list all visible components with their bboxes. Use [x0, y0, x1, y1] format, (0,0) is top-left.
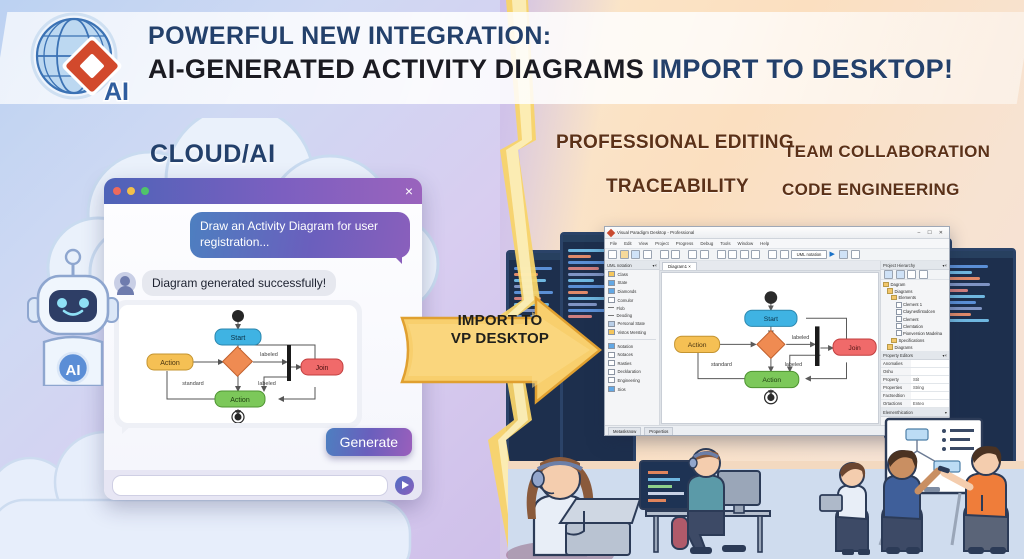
maximize-dot-icon[interactable]: [141, 187, 149, 195]
window-controls[interactable]: [113, 187, 149, 195]
palette-item-class[interactable]: Class: [605, 270, 659, 279]
palette-item-label: Sios: [618, 387, 626, 392]
tree-item[interactable]: Dagram: [883, 281, 947, 288]
menu-item-view[interactable]: View: [639, 241, 648, 246]
tree-item-label: Claynesfintodcen: [903, 309, 935, 314]
palette-item-label: Decklaration: [618, 369, 641, 374]
tree-item[interactable]: Clemtation: [883, 323, 947, 330]
palette-item-deoding[interactable]: Deoding: [605, 312, 659, 320]
folder-icon: [891, 295, 897, 301]
palette-item-decklaration[interactable]: Decklaration: [605, 368, 659, 377]
initial-node: [765, 291, 778, 304]
palette-item-state[interactable]: State: [605, 279, 659, 288]
vp-title-bar: Visual Paradigm Desktop - Professional –…: [605, 227, 949, 239]
line-icon-2: [608, 315, 614, 317]
collapse-tree-icon[interactable]: [896, 270, 905, 279]
svg-text:Join: Join: [316, 365, 329, 372]
tree-item[interactable]: Diagrams: [883, 344, 947, 351]
new-file-icon[interactable]: [608, 250, 617, 259]
tree-item-label: Diagrams: [895, 345, 913, 350]
project-hierarchy-toolbar[interactable]: [881, 270, 949, 280]
whiteboard-group: [820, 419, 1008, 555]
copy-icon[interactable]: [660, 250, 669, 259]
palette-item-label: Personal State: [618, 321, 645, 326]
element-icon: [896, 316, 902, 322]
import-arrow-label: IMPORT TO VP DESKTOP: [430, 312, 570, 349]
zoom-fit-icon[interactable]: [740, 250, 749, 259]
palette-item-vistos-mersting[interactable]: Vistos Mersting: [605, 328, 659, 337]
property-editors-header: Property Editors ▾×: [881, 351, 949, 360]
palette-item-label: Notation: [618, 344, 634, 349]
palette-item-flob[interactable]: Flob: [605, 304, 659, 312]
chat-message-user: Draw an Activity Diagram for user regist…: [190, 212, 410, 258]
class-icon: [608, 271, 615, 277]
menu-item-tools[interactable]: Tools: [720, 241, 730, 246]
sios-icon: [608, 386, 615, 392]
feature-label-traceability: TRACEABILITY: [606, 176, 749, 198]
palette-item-label: Engineering: [618, 378, 640, 383]
element-icon: [896, 323, 902, 329]
visual-paradigm-ai-logo-icon: AI: [22, 8, 140, 112]
paste-icon[interactable]: [671, 250, 680, 259]
palette-item-sios[interactable]: Sios: [605, 385, 659, 394]
menu-item-window[interactable]: Window: [738, 241, 754, 246]
uml-notation-panel-title: UML notation: [607, 263, 632, 268]
tab-diagram1[interactable]: Diagram1 ×: [662, 262, 697, 270]
tree-item-label: Dagram: [891, 282, 906, 287]
toolbar-separator: [654, 251, 657, 258]
refresh-tree-icon[interactable]: [919, 270, 928, 279]
property-value[interactable]: [911, 360, 949, 367]
svg-text:standard: standard: [711, 362, 732, 368]
engineering-icon: [608, 377, 615, 383]
close-icon[interactable]: ✕: [939, 230, 943, 236]
cloud-label: CLOUD/AI: [150, 140, 276, 169]
vp-diagram-tabs[interactable]: Diagram1 ×: [660, 261, 880, 271]
palette-item-comulor[interactable]: Comulor: [605, 296, 659, 305]
close-dot-icon[interactable]: [113, 187, 121, 195]
property-value[interactable]: String: [911, 384, 949, 391]
tree-item-label: Clement 1: [903, 302, 922, 307]
folder-icon: [883, 282, 889, 288]
ai-robot-mascot: AI: [18, 246, 128, 386]
palette-item-label: Class: [618, 272, 628, 277]
panel-close-icon-3[interactable]: ▾×: [942, 353, 947, 358]
print-icon[interactable]: [643, 250, 652, 259]
open-folder-icon[interactable]: [620, 250, 629, 259]
palette-item-label: Deoding: [617, 313, 633, 318]
vp-menu-bar[interactable]: File Edit View Project Progress Debug To…: [605, 239, 949, 249]
tab-label: Diagram1: [668, 264, 687, 269]
minimize-icon[interactable]: –: [918, 230, 921, 236]
uml-notation-panel-header: UML notation ▾×: [605, 261, 659, 270]
vp-app-icon: [607, 228, 615, 236]
tree-item-label: Elements: [899, 295, 916, 300]
vp-window-buttons[interactable]: – ☐ ✕: [918, 230, 946, 236]
tree-item[interactable]: Elements: [883, 294, 947, 301]
headline-line-2-accent: IMPORT TO DESKTOP!: [652, 54, 953, 84]
palette-item-label: Notaces: [618, 352, 633, 357]
toolbar-separator-4: [763, 251, 766, 258]
menu-item-edit[interactable]: Edit: [624, 241, 632, 246]
palette-item-label: Comulor: [618, 298, 634, 303]
import-arrow-label-line2: VP DESKTOP: [430, 330, 570, 348]
svg-text:Start: Start: [764, 316, 778, 323]
zoom-out-icon[interactable]: [728, 250, 737, 259]
rasties-icon: [608, 360, 615, 366]
svg-text:standard: standard: [182, 381, 203, 387]
line-icon: [608, 307, 614, 309]
menu-item-file[interactable]: File: [610, 241, 617, 246]
panel-close-icon-2[interactable]: ▾×: [942, 263, 947, 268]
tree-item[interactable]: Diagrams: [883, 288, 947, 295]
property-name: Anomalies: [881, 360, 911, 367]
tree-item-label: Clement: [903, 317, 919, 322]
palette-item-label: Diamonds: [618, 289, 637, 294]
headline-line-2: AI-GENERATED ACTIVITY DIAGRAMS IMPORT TO…: [148, 54, 978, 86]
pen-icon[interactable]: [780, 250, 789, 259]
svg-text:Join: Join: [848, 345, 861, 352]
vp-window-title: Visual Paradigm Desktop - Professional: [617, 230, 918, 235]
palette-item-label: Vistos Mersting: [618, 330, 647, 335]
notaces-icon: [608, 352, 615, 358]
palette-item-engineering[interactable]: Engineering: [605, 376, 659, 385]
feature-label-professional-editing: PROFESSIONAL EDITING: [556, 132, 794, 154]
svg-text:labeled: labeled: [792, 335, 809, 341]
property-name: Property: [881, 376, 911, 383]
notation-icon: [608, 343, 615, 349]
promo-banner: AI POWERFUL NEW INTEGRATION: AI-GENERATE…: [0, 0, 1024, 559]
toolbar-separator-2: [683, 251, 686, 258]
note-icon: [608, 329, 615, 335]
import-arrow-label-line1: IMPORT TO: [430, 312, 570, 330]
chat-message-bot-row: Diagram generated successfully!: [114, 270, 336, 296]
menu-item-progress[interactable]: Progress: [676, 241, 694, 246]
svg-text:labeled: labeled: [258, 381, 276, 387]
menu-item-project[interactable]: Project: [655, 241, 669, 246]
feature-label-team-collaboration: TEAM COLLABORATION: [784, 142, 990, 162]
svg-text:labeled: labeled: [785, 362, 802, 368]
svg-text:AI: AI: [66, 362, 81, 379]
folder-icon: [891, 338, 897, 344]
folder-icon: [887, 288, 893, 294]
tree-item-label: Diagrams: [895, 289, 913, 294]
property-name: Oshu: [881, 368, 911, 375]
element-icon: [896, 309, 902, 315]
zoom-reset-icon[interactable]: [751, 250, 760, 259]
menu-item-debug[interactable]: Debug: [700, 241, 713, 246]
svg-text:AI: AI: [104, 78, 129, 106]
property-name: Properties: [881, 384, 911, 391]
zoom-in-icon[interactable]: [717, 250, 726, 259]
tree-item[interactable]: Clement: [883, 315, 947, 322]
svg-text:Start: Start: [231, 335, 246, 342]
save-icon[interactable]: [631, 250, 640, 259]
property-value[interactable]: Stit: [911, 376, 949, 383]
diamond-icon: [608, 288, 615, 294]
tree-item-label: Pionversion Madelna: [903, 331, 942, 336]
svg-text:Action: Action: [688, 342, 707, 349]
property-value[interactable]: [911, 368, 949, 375]
people-illustration: [0, 399, 1024, 559]
property-row[interactable]: Anomalies: [881, 360, 949, 368]
undo-icon[interactable]: [688, 250, 697, 259]
palette-item-diamonds[interactable]: Diamonds: [605, 287, 659, 296]
run-icon[interactable]: ▶: [830, 251, 837, 258]
palette-item-notation[interactable]: Notation: [605, 342, 659, 351]
tree-item[interactable]: Claynesfintodcen: [883, 308, 947, 315]
expand-tree-icon[interactable]: [884, 270, 893, 279]
maximize-icon[interactable]: ☐: [927, 230, 931, 236]
palette-item-personal-state[interactable]: Personal State: [605, 320, 659, 329]
svg-text:labeled: labeled: [260, 352, 278, 358]
palette-item-label: Flob: [617, 306, 625, 311]
property-row[interactable]: PropertyStit: [881, 376, 949, 384]
property-row[interactable]: PropertiesString: [881, 384, 949, 392]
decklaration-icon: [608, 369, 615, 375]
project-hierarchy-title: Project Hierarchy: [883, 263, 915, 268]
window-layout-icon[interactable]: [851, 250, 860, 259]
tab-close-icon[interactable]: ×: [688, 264, 691, 269]
svg-text:Action: Action: [160, 360, 180, 367]
folder-icon: [887, 344, 893, 350]
project-hierarchy-header: Project Hierarchy ▾×: [881, 261, 949, 270]
tree-item-label: Specifications: [899, 338, 925, 343]
vp-toolbar[interactable]: UML notation ▶: [605, 249, 949, 261]
headline-line-2-main: AI-GENERATED ACTIVITY DIAGRAMS: [148, 54, 644, 84]
chat-title-bar: ×: [104, 178, 422, 204]
minimize-dot-icon[interactable]: [127, 187, 135, 195]
close-icon[interactable]: ×: [405, 182, 413, 200]
globe-icon[interactable]: [839, 250, 848, 259]
element-icon: [896, 302, 902, 308]
palette-item-label: State: [618, 280, 628, 285]
toolbar-separator-3: [711, 251, 714, 258]
chat-message-bot: Diagram generated successfully!: [142, 270, 336, 296]
state-icon: [608, 280, 615, 286]
page-title: POWERFUL NEW INTEGRATION: AI-GENERATED A…: [148, 22, 978, 85]
tree-item[interactable]: Specifications: [883, 337, 947, 344]
palette-item-notaces[interactable]: Notaces: [605, 350, 659, 359]
filter-tree-icon[interactable]: [907, 270, 916, 279]
property-editors-title: Property Editors: [883, 353, 913, 358]
palette-separator: [608, 339, 656, 340]
tree-item[interactable]: Clement 1: [883, 301, 947, 308]
project-hierarchy-tree[interactable]: Dagram Diagrams Elements Clement 1 Clayn…: [881, 280, 949, 351]
rounded-rect-icon: [608, 321, 615, 327]
rectangle-icon: [608, 297, 615, 303]
tree-item-label: Clemtation: [903, 324, 923, 329]
notation-selector[interactable]: UML notation: [791, 250, 827, 259]
svg-text:Action: Action: [762, 377, 781, 384]
tree-item[interactable]: Pionversion Madelna: [883, 330, 947, 337]
initial-node: [232, 310, 244, 322]
feature-label-code-engineering: CODE ENGINEERING: [782, 180, 960, 200]
headline-line-1: POWERFUL NEW INTEGRATION:: [148, 22, 978, 52]
element-icon: [896, 330, 902, 336]
menu-item-help[interactable]: Help: [760, 241, 769, 246]
palette-item-rasties[interactable]: Rasties: [605, 359, 659, 368]
pointer-icon[interactable]: [768, 250, 777, 259]
panel-close-icon[interactable]: ▾×: [652, 263, 657, 268]
property-row[interactable]: Oshu: [881, 368, 949, 376]
redo-icon[interactable]: [700, 250, 709, 259]
palette-item-label: Rasties: [618, 361, 632, 366]
